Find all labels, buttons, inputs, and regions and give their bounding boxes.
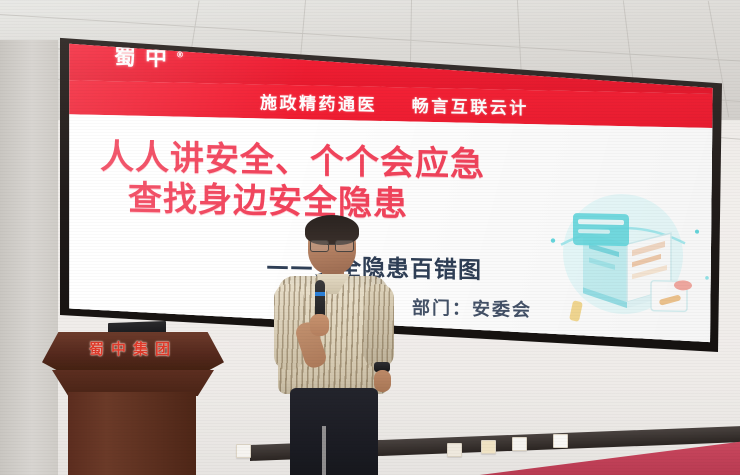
wall-outlet bbox=[447, 443, 462, 457]
slide-main-title: 人人讲安全、个个会应急 查找身边安全隐患 bbox=[100, 137, 600, 231]
speaker-leg-gap bbox=[322, 426, 326, 475]
company-logo-right: 蜀中 bbox=[662, 57, 704, 83]
title-line-1: 人人讲安全、个个会应急 bbox=[100, 137, 485, 185]
banner-left-text: 施政精药通医 bbox=[260, 93, 377, 115]
podium-label: 蜀中集团 bbox=[42, 338, 224, 359]
speaker-right-hand bbox=[374, 370, 391, 392]
footer-bar-right bbox=[464, 345, 634, 354]
podium: 蜀中集团 bbox=[36, 322, 232, 475]
podium-column bbox=[68, 392, 196, 475]
wall-outlet bbox=[553, 434, 568, 448]
wall-outlet bbox=[481, 440, 496, 454]
banner-right-text: 畅言互联云计 bbox=[412, 97, 529, 119]
registered-mark-icon: ® bbox=[176, 50, 184, 59]
speaker-presenter bbox=[272, 218, 396, 475]
speaker-pants bbox=[290, 388, 378, 475]
glasses-icon bbox=[310, 240, 354, 250]
speaker-right-sleeve bbox=[364, 284, 394, 368]
slide-department: 部门：安委会 bbox=[412, 294, 532, 323]
wall-outlet bbox=[236, 444, 251, 458]
wall-outlet bbox=[512, 437, 527, 451]
speaker-hand bbox=[310, 314, 329, 336]
photo-scene: 蜀中® 蜀中 施政精药通医 畅言互联云计 bbox=[0, 0, 740, 475]
